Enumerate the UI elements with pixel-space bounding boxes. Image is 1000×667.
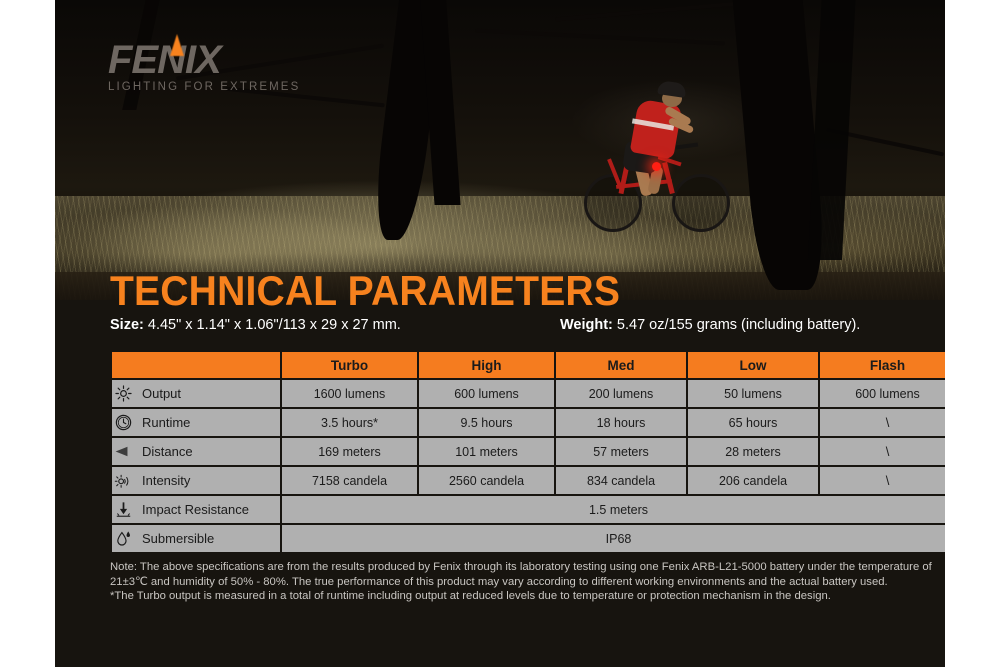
bike-wheel-icon: [672, 174, 730, 232]
handlebar: [676, 142, 698, 149]
tree-branch-icon: [475, 28, 725, 45]
water-drop-icon: [114, 529, 133, 548]
cell-runtime-turbo: 3.5 hours*: [282, 409, 417, 436]
cell-intensity-high: 2560 candela: [419, 467, 554, 494]
footnote-line-2: *The Turbo output is measured in a total…: [110, 589, 945, 604]
row-label: Runtime: [142, 416, 190, 429]
light-intensity-icon: [114, 471, 133, 490]
cell-runtime-high: 9.5 hours: [419, 409, 554, 436]
clock-icon: [114, 413, 133, 432]
table-row: Runtime 3.5 hours* 9.5 hours 18 hours 65…: [112, 409, 945, 436]
cell-impact-resistance-value: 1.5 meters: [282, 496, 945, 523]
table-header: Turbo High Med Low Flash: [112, 352, 945, 378]
cell-runtime-low: 65 hours: [688, 409, 818, 436]
table-row: Impact Resistance 1.5 meters: [112, 496, 945, 523]
cell-distance-turbo: 169 meters: [282, 438, 417, 465]
brightness-sun-icon: [114, 384, 133, 403]
rider-jersey: [630, 99, 683, 160]
cell-output-flash: 600 lumens: [820, 380, 945, 407]
cell-output-high: 600 lumens: [419, 380, 554, 407]
table-row: Submersible IP68: [112, 525, 945, 552]
cell-runtime-med: 18 hours: [556, 409, 686, 436]
technical-parameters-table: Turbo High Med Low Flash: [110, 350, 945, 554]
cell-runtime-flash: \: [820, 409, 945, 436]
fenix-logo: FENIX LIGHTING FOR EXTREMES: [108, 40, 338, 92]
cell-intensity-med: 834 candela: [556, 467, 686, 494]
impact-arrow-icon: [114, 500, 133, 519]
row-header-submersible: Submersible: [112, 525, 280, 552]
row-header-output: Output: [112, 380, 280, 407]
table-body: Output 1600 lumens 600 lumens 200 lumens…: [112, 380, 945, 552]
weight-group: Weight: 5.47 oz/155 grams (including bat…: [560, 317, 860, 333]
cell-intensity-turbo: 7158 candela: [282, 467, 417, 494]
column-header-low: Low: [688, 352, 818, 378]
table-row: Distance 169 meters 101 meters 57 meters…: [112, 438, 945, 465]
cell-distance-med: 57 meters: [556, 438, 686, 465]
weight-label: Weight:: [560, 317, 613, 333]
cell-output-turbo: 1600 lumens: [282, 380, 417, 407]
cell-output-med: 200 lumens: [556, 380, 686, 407]
row-header-distance: Distance: [112, 438, 280, 465]
brand-tagline: LIGHTING FOR EXTREMES: [108, 81, 338, 93]
beam-distance-icon: [114, 442, 133, 461]
cell-intensity-low: 206 candela: [688, 467, 818, 494]
spec-summary-line: Size: 4.45" x 1.14" x 1.06"/113 x 29 x 2…: [110, 317, 920, 333]
column-header-flash: Flash: [820, 352, 945, 378]
page-title: TECHNICAL PARAMETERS: [110, 270, 620, 312]
size-label: Size:: [110, 317, 144, 333]
row-label: Impact Resistance: [142, 503, 249, 516]
cell-submersible-value: IP68: [282, 525, 945, 552]
row-header-intensity: Intensity: [112, 467, 280, 494]
bike-frame: [662, 162, 675, 194]
cell-output-low: 50 lumens: [688, 380, 818, 407]
row-label: Submersible: [142, 532, 214, 545]
column-header-turbo: Turbo: [282, 352, 417, 378]
weight-value: 5.47 oz/155 grams (including battery).: [617, 317, 860, 333]
column-header-med: Med: [556, 352, 686, 378]
flame-spark-icon: [170, 34, 184, 56]
cyclist-figure: [580, 78, 760, 243]
page-root: FENIX LIGHTING FOR EXTREMES TECHNICAL PA…: [0, 0, 1000, 667]
footnote-line-1: Note: The above specifications are from …: [110, 560, 945, 589]
cell-distance-low: 28 meters: [688, 438, 818, 465]
column-header-high: High: [419, 352, 554, 378]
size-value: 4.45" x 1.14" x 1.06"/113 x 29 x 27 mm.: [148, 317, 401, 333]
cell-distance-high: 101 meters: [419, 438, 554, 465]
cell-distance-flash: \: [820, 438, 945, 465]
bike-taillight-icon: [652, 162, 661, 171]
table-header-row: Turbo High Med Low Flash: [112, 352, 945, 378]
table-corner-cell: [112, 352, 280, 378]
footnote-block: Note: The above specifications are from …: [110, 560, 945, 604]
cell-intensity-flash: \: [820, 467, 945, 494]
row-header-impact-resistance: Impact Resistance: [112, 496, 280, 523]
table-row: Output 1600 lumens 600 lumens 200 lumens…: [112, 380, 945, 407]
row-label: Output: [142, 387, 181, 400]
content-panel: FENIX LIGHTING FOR EXTREMES TECHNICAL PA…: [55, 0, 945, 667]
brand-name: FENIX: [108, 40, 338, 80]
row-label: Intensity: [142, 474, 190, 487]
table-row: Intensity 7158 candela 2560 candela 834 …: [112, 467, 945, 494]
row-label: Distance: [142, 445, 193, 458]
row-header-runtime: Runtime: [112, 409, 280, 436]
